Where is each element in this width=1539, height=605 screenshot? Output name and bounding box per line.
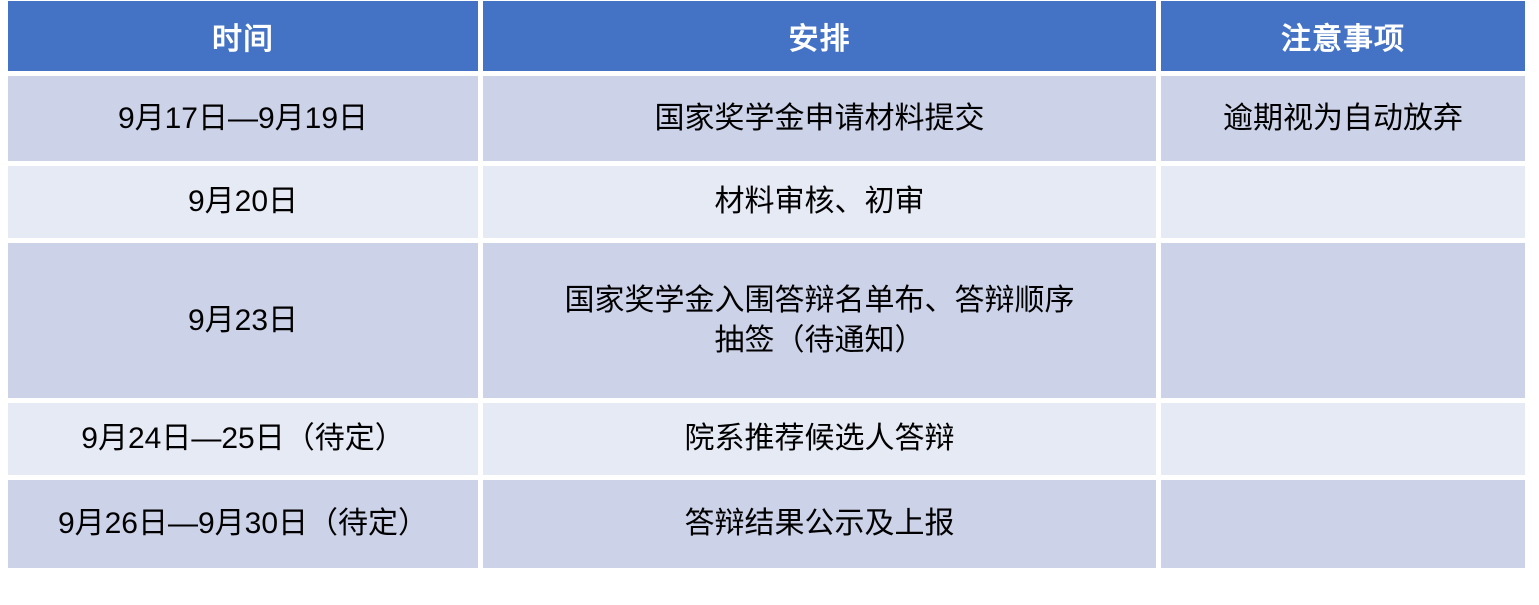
cell-arrange: 国家奖学金申请材料提交 — [483, 76, 1156, 161]
cell-notes — [1161, 243, 1525, 398]
cell-arrange: 国家奖学金入围答辩名单布、答辩顺序 抽签（待通知） — [483, 243, 1156, 398]
column-header-time: 时间 — [8, 1, 478, 71]
column-header-arrange: 安排 — [483, 1, 1156, 71]
table-row: 9月20日 材料审核、初审 — [8, 166, 1525, 238]
table-row: 9月23日 国家奖学金入围答辩名单布、答辩顺序 抽签（待通知） — [8, 243, 1525, 398]
cell-notes: 逾期视为自动放弃 — [1161, 76, 1525, 161]
cell-arrange: 材料审核、初审 — [483, 166, 1156, 238]
cell-arrange: 院系推荐候选人答辩 — [483, 403, 1156, 475]
cell-time: 9月20日 — [8, 166, 478, 238]
table-row: 9月26日—9月30日（待定） 答辩结果公示及上报 — [8, 480, 1525, 568]
cell-notes — [1161, 403, 1525, 475]
cell-time: 9月23日 — [8, 243, 478, 398]
cell-arrange: 答辩结果公示及上报 — [483, 480, 1156, 568]
cell-time: 9月24日—25日（待定） — [8, 403, 478, 475]
cell-time: 9月26日—9月30日（待定） — [8, 480, 478, 568]
cell-notes — [1161, 480, 1525, 568]
cell-time: 9月17日—9月19日 — [8, 76, 478, 161]
table-body: 9月17日—9月19日 国家奖学金申请材料提交 逾期视为自动放弃 9月20日 材… — [8, 76, 1525, 568]
schedule-table: 时间 安排 注意事项 9月17日—9月19日 国家奖学金申请材料提交 逾期视为自… — [3, 0, 1530, 573]
table-row: 9月24日—25日（待定） 院系推荐候选人答辩 — [8, 403, 1525, 475]
table-header: 时间 安排 注意事项 — [8, 1, 1525, 71]
table-row: 9月17日—9月19日 国家奖学金申请材料提交 逾期视为自动放弃 — [8, 76, 1525, 161]
cell-notes — [1161, 166, 1525, 238]
table-header-row: 时间 安排 注意事项 — [8, 1, 1525, 71]
column-header-notes: 注意事项 — [1161, 1, 1525, 71]
